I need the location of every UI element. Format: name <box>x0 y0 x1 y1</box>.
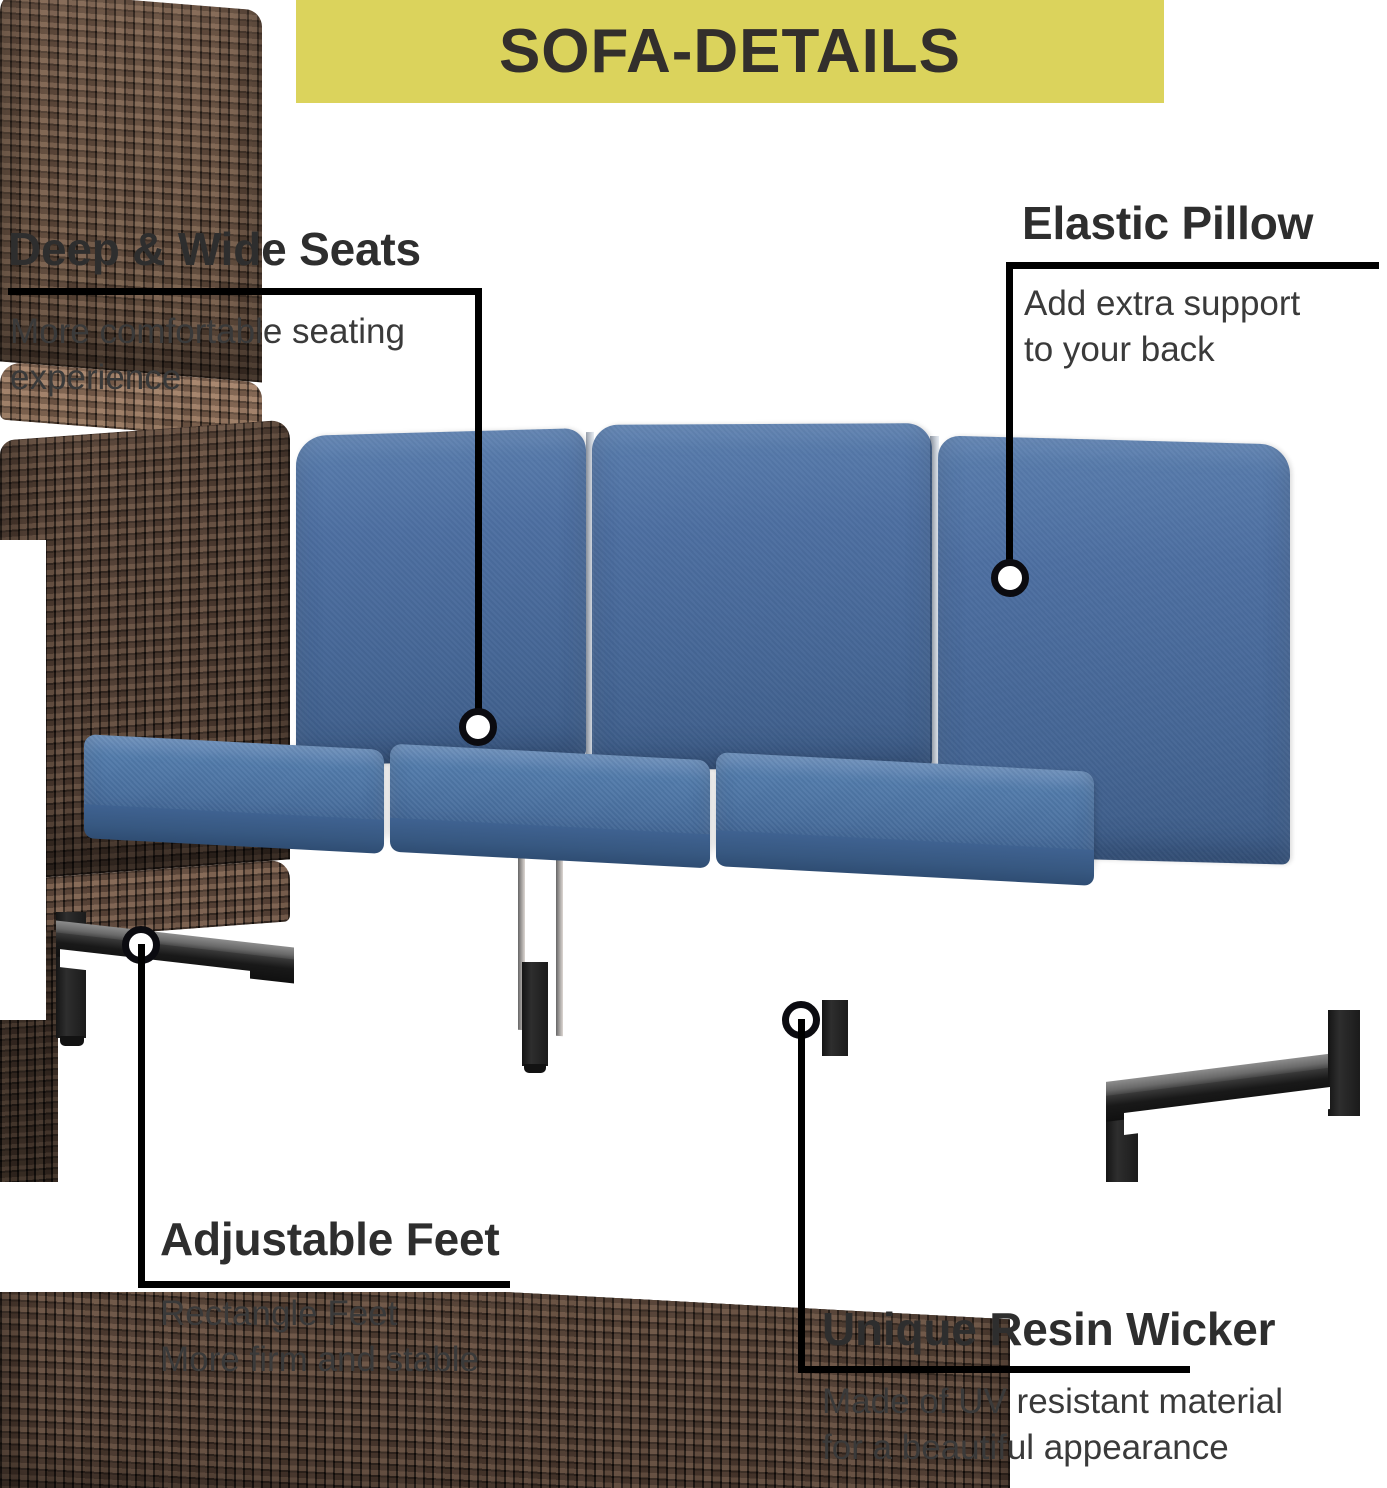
leg-left-foot-pad <box>60 1036 84 1046</box>
marker-deep-wide-seats <box>459 708 497 746</box>
callout-leader-elastic-pillow <box>1006 262 1013 582</box>
callout-body-elastic-pillow-line1: Add extra support <box>1024 282 1300 327</box>
infographic-page: SOFA-DETAILS <box>0 0 1387 1488</box>
leg-right-far-post <box>1328 1010 1360 1116</box>
back-cushion-center <box>592 423 932 770</box>
callout-body-unique-resin-wicker-line2: for a beautiful appearance <box>822 1426 1229 1471</box>
marker-elastic-pillow <box>991 559 1029 597</box>
sofa-leg-center <box>522 962 556 1072</box>
callout-body-adjustable-feet-line1: Rectangle Feet <box>160 1292 397 1337</box>
callout-leader-adjustable-feet <box>138 944 145 1288</box>
mask-gap-between-legs <box>310 1000 510 1184</box>
leg-center-foot-pad <box>524 1064 546 1073</box>
callout-title-unique-resin-wicker: Unique Resin Wicker <box>822 1302 1275 1356</box>
callout-rule-elastic-pillow <box>1006 262 1379 269</box>
mask-gap-center-right <box>858 1040 1098 1190</box>
callout-title-adjustable-feet: Adjustable Feet <box>160 1212 500 1266</box>
leg-center-right-post <box>822 1000 848 1056</box>
mask-gap-center <box>562 1040 812 1190</box>
mask-left-of-arm <box>0 540 46 1020</box>
back-cushion-left <box>296 428 586 766</box>
callout-body-deep-wide-seats-line2: experience <box>10 356 181 401</box>
callout-title-deep-wide-seats: Deep & Wide Seats <box>8 222 421 276</box>
callout-body-unique-resin-wicker-line1: Made of UV resistant material <box>822 1380 1283 1425</box>
back-cushion-seam-1 <box>586 432 594 762</box>
sofa-leg-center-right <box>822 1000 856 1060</box>
mask-right-of-arm <box>1372 580 1387 1100</box>
callout-rule-adjustable-feet <box>138 1281 510 1288</box>
callout-title-elastic-pillow: Elastic Pillow <box>1022 196 1313 250</box>
callout-rule-deep-wide-seats <box>8 288 482 295</box>
callout-body-adjustable-feet-line2: More firm and stable <box>160 1338 479 1383</box>
callout-leader-unique-resin-wicker <box>798 1019 805 1373</box>
callout-body-deep-wide-seats-line1: More comfortable seating <box>10 310 405 355</box>
leg-center-post <box>522 962 548 1066</box>
sofa-leg-right <box>1106 1010 1381 1178</box>
callout-body-elastic-pillow-line2: to your back <box>1024 328 1215 373</box>
callout-leader-deep-wide-seats <box>475 288 482 736</box>
callout-rule-unique-resin-wicker <box>798 1366 1190 1373</box>
